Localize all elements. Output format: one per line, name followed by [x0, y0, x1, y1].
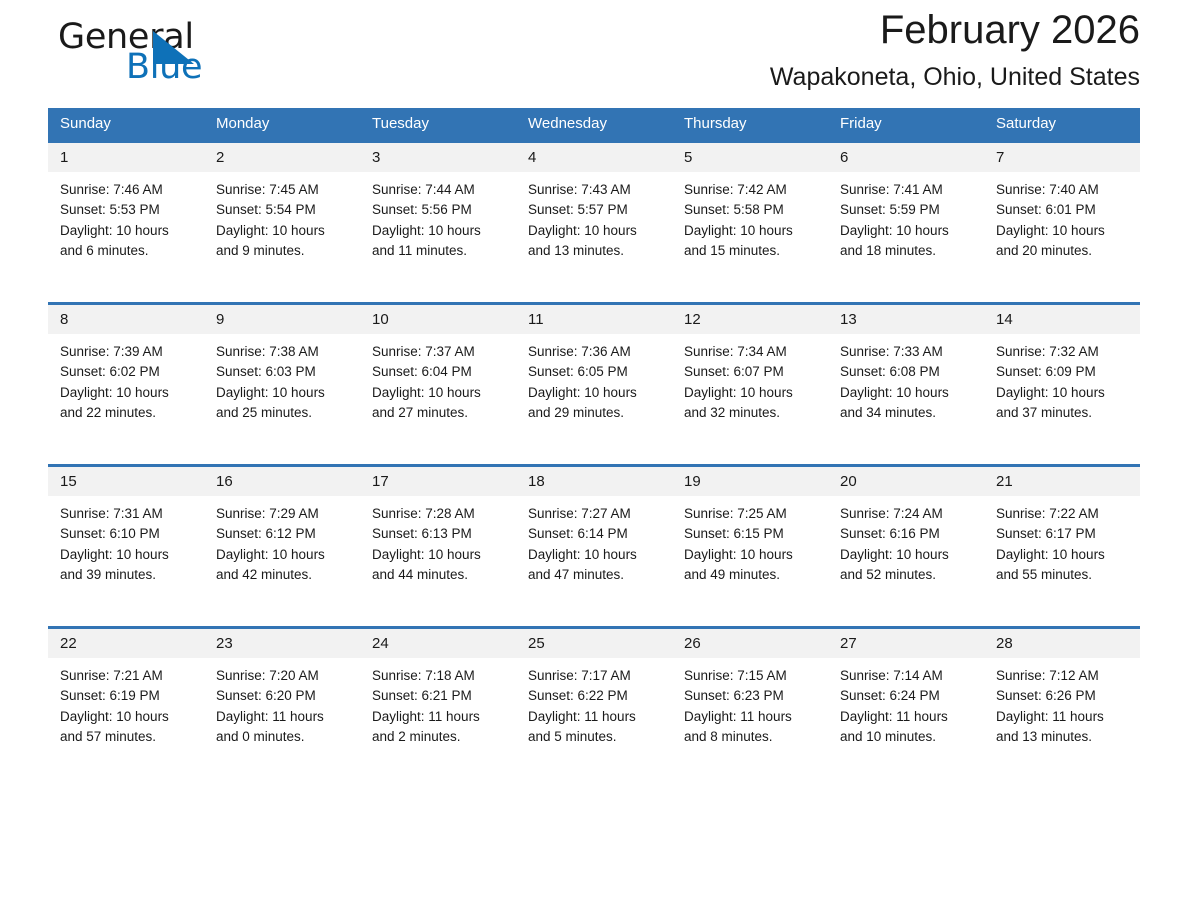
day-number: 11: [516, 305, 672, 334]
daylight-text-line1: Daylight: 10 hours: [60, 707, 194, 727]
sunset-text: Sunset: 6:26 PM: [996, 686, 1130, 706]
daylight-text-line1: Daylight: 10 hours: [684, 383, 818, 403]
daylight-text-line2: and 9 minutes.: [216, 241, 350, 261]
sunrise-text: Sunrise: 7:40 AM: [996, 180, 1130, 200]
day-cell[interactable]: 5Sunrise: 7:42 AMSunset: 5:58 PMDaylight…: [672, 142, 828, 304]
day-number: 12: [672, 305, 828, 334]
day-details: Sunrise: 7:17 AMSunset: 6:22 PMDaylight:…: [516, 658, 672, 747]
page-subtitle: Wapakoneta, Ohio, United States: [770, 60, 1140, 94]
day-number: 6: [828, 143, 984, 172]
daylight-text-line1: Daylight: 10 hours: [60, 383, 194, 403]
daylight-text-line2: and 6 minutes.: [60, 241, 194, 261]
sunrise-text: Sunrise: 7:44 AM: [372, 180, 506, 200]
sunset-text: Sunset: 6:12 PM: [216, 524, 350, 544]
daylight-text-line1: Daylight: 10 hours: [840, 545, 974, 565]
day-cell[interactable]: 19Sunrise: 7:25 AMSunset: 6:15 PMDayligh…: [672, 466, 828, 628]
day-cell[interactable]: 7Sunrise: 7:40 AMSunset: 6:01 PMDaylight…: [984, 142, 1140, 304]
logo-text-blue: Blue: [126, 50, 202, 85]
calendar-body: 1Sunrise: 7:46 AMSunset: 5:53 PMDaylight…: [48, 142, 1140, 790]
sunset-text: Sunset: 6:24 PM: [840, 686, 974, 706]
daylight-text-line1: Daylight: 10 hours: [60, 545, 194, 565]
daylight-text-line2: and 13 minutes.: [528, 241, 662, 261]
day-cell[interactable]: 14Sunrise: 7:32 AMSunset: 6:09 PMDayligh…: [984, 304, 1140, 466]
day-number: 26: [672, 629, 828, 658]
sunset-text: Sunset: 6:15 PM: [684, 524, 818, 544]
day-cell[interactable]: 28Sunrise: 7:12 AMSunset: 6:26 PMDayligh…: [984, 628, 1140, 790]
day-number: 13: [828, 305, 984, 334]
day-cell[interactable]: 22Sunrise: 7:21 AMSunset: 6:19 PMDayligh…: [48, 628, 204, 790]
sunset-text: Sunset: 6:10 PM: [60, 524, 194, 544]
day-details: Sunrise: 7:27 AMSunset: 6:14 PMDaylight:…: [516, 496, 672, 585]
daylight-text-line1: Daylight: 10 hours: [372, 383, 506, 403]
sunrise-text: Sunrise: 7:20 AM: [216, 666, 350, 686]
daylight-text-line2: and 22 minutes.: [60, 403, 194, 423]
sunset-text: Sunset: 6:19 PM: [60, 686, 194, 706]
daylight-text-line1: Daylight: 10 hours: [528, 383, 662, 403]
day-cell[interactable]: 12Sunrise: 7:34 AMSunset: 6:07 PMDayligh…: [672, 304, 828, 466]
day-number: 14: [984, 305, 1140, 334]
daylight-text-line1: Daylight: 11 hours: [840, 707, 974, 727]
day-details: Sunrise: 7:45 AMSunset: 5:54 PMDaylight:…: [204, 172, 360, 261]
day-details: Sunrise: 7:36 AMSunset: 6:05 PMDaylight:…: [516, 334, 672, 423]
day-number: 4: [516, 143, 672, 172]
sunrise-text: Sunrise: 7:41 AM: [840, 180, 974, 200]
day-cell[interactable]: 20Sunrise: 7:24 AMSunset: 6:16 PMDayligh…: [828, 466, 984, 628]
day-details: Sunrise: 7:42 AMSunset: 5:58 PMDaylight:…: [672, 172, 828, 261]
day-number: 9: [204, 305, 360, 334]
daylight-text-line2: and 2 minutes.: [372, 727, 506, 747]
daylight-text-line2: and 34 minutes.: [840, 403, 974, 423]
daylight-text-line2: and 32 minutes.: [684, 403, 818, 423]
sunset-text: Sunset: 5:53 PM: [60, 200, 194, 220]
calendar-header: Sunday Monday Tuesday Wednesday Thursday…: [48, 108, 1140, 142]
week-row: 22Sunrise: 7:21 AMSunset: 6:19 PMDayligh…: [48, 628, 1140, 790]
day-number: 10: [360, 305, 516, 334]
day-details: Sunrise: 7:43 AMSunset: 5:57 PMDaylight:…: [516, 172, 672, 261]
sunset-text: Sunset: 6:04 PM: [372, 362, 506, 382]
day-number: 21: [984, 467, 1140, 496]
sunset-text: Sunset: 6:01 PM: [996, 200, 1130, 220]
sunset-text: Sunset: 6:07 PM: [684, 362, 818, 382]
sunrise-text: Sunrise: 7:46 AM: [60, 180, 194, 200]
page-header: General Blue February 2026 Wapakoneta, O…: [48, 0, 1140, 108]
title-block: February 2026 Wapakoneta, Ohio, United S…: [770, 4, 1140, 94]
day-cell[interactable]: 1Sunrise: 7:46 AMSunset: 5:53 PMDaylight…: [48, 142, 204, 304]
daylight-text-line2: and 15 minutes.: [684, 241, 818, 261]
sunset-text: Sunset: 5:57 PM: [528, 200, 662, 220]
daylight-text-line1: Daylight: 11 hours: [528, 707, 662, 727]
day-details: Sunrise: 7:24 AMSunset: 6:16 PMDaylight:…: [828, 496, 984, 585]
daylight-text-line1: Daylight: 10 hours: [528, 221, 662, 241]
day-number: 8: [48, 305, 204, 334]
day-details: Sunrise: 7:41 AMSunset: 5:59 PMDaylight:…: [828, 172, 984, 261]
daylight-text-line1: Daylight: 10 hours: [996, 221, 1130, 241]
daylight-text-line2: and 11 minutes.: [372, 241, 506, 261]
day-number: 2: [204, 143, 360, 172]
day-details: Sunrise: 7:39 AMSunset: 6:02 PMDaylight:…: [48, 334, 204, 423]
day-cell[interactable]: 23Sunrise: 7:20 AMSunset: 6:20 PMDayligh…: [204, 628, 360, 790]
daylight-text-line2: and 57 minutes.: [60, 727, 194, 747]
day-details: Sunrise: 7:25 AMSunset: 6:15 PMDaylight:…: [672, 496, 828, 585]
sunrise-text: Sunrise: 7:36 AM: [528, 342, 662, 362]
day-details: Sunrise: 7:22 AMSunset: 6:17 PMDaylight:…: [984, 496, 1140, 585]
day-cell[interactable]: 27Sunrise: 7:14 AMSunset: 6:24 PMDayligh…: [828, 628, 984, 790]
sunset-text: Sunset: 6:09 PM: [996, 362, 1130, 382]
daylight-text-line1: Daylight: 10 hours: [684, 545, 818, 565]
day-cell[interactable]: 26Sunrise: 7:15 AMSunset: 6:23 PMDayligh…: [672, 628, 828, 790]
daylight-text-line2: and 18 minutes.: [840, 241, 974, 261]
daylight-text-line2: and 44 minutes.: [372, 565, 506, 585]
day-details: Sunrise: 7:18 AMSunset: 6:21 PMDaylight:…: [360, 658, 516, 747]
day-cell[interactable]: 3Sunrise: 7:44 AMSunset: 5:56 PMDaylight…: [360, 142, 516, 304]
day-number: 20: [828, 467, 984, 496]
week-row: 1Sunrise: 7:46 AMSunset: 5:53 PMDaylight…: [48, 142, 1140, 304]
day-details: Sunrise: 7:31 AMSunset: 6:10 PMDaylight:…: [48, 496, 204, 585]
dow-header-tuesday: Tuesday: [360, 108, 516, 142]
day-cell[interactable]: 10Sunrise: 7:37 AMSunset: 6:04 PMDayligh…: [360, 304, 516, 466]
day-details: Sunrise: 7:34 AMSunset: 6:07 PMDaylight:…: [672, 334, 828, 423]
sunrise-text: Sunrise: 7:29 AM: [216, 504, 350, 524]
calendar-page: General Blue February 2026 Wapakoneta, O…: [0, 0, 1188, 918]
day-cell[interactable]: 21Sunrise: 7:22 AMSunset: 6:17 PMDayligh…: [984, 466, 1140, 628]
sunrise-text: Sunrise: 7:15 AM: [684, 666, 818, 686]
day-details: Sunrise: 7:37 AMSunset: 6:04 PMDaylight:…: [360, 334, 516, 423]
daylight-text-line1: Daylight: 11 hours: [684, 707, 818, 727]
day-cell[interactable]: 9Sunrise: 7:38 AMSunset: 6:03 PMDaylight…: [204, 304, 360, 466]
day-cell[interactable]: 18Sunrise: 7:27 AMSunset: 6:14 PMDayligh…: [516, 466, 672, 628]
daylight-text-line1: Daylight: 10 hours: [216, 221, 350, 241]
day-details: Sunrise: 7:20 AMSunset: 6:20 PMDaylight:…: [204, 658, 360, 747]
daylight-text-line1: Daylight: 11 hours: [996, 707, 1130, 727]
dow-header-monday: Monday: [204, 108, 360, 142]
daylight-text-line1: Daylight: 10 hours: [840, 221, 974, 241]
week-row: 15Sunrise: 7:31 AMSunset: 6:10 PMDayligh…: [48, 466, 1140, 628]
sunrise-text: Sunrise: 7:25 AM: [684, 504, 818, 524]
day-cell[interactable]: 2Sunrise: 7:45 AMSunset: 5:54 PMDaylight…: [204, 142, 360, 304]
calendar-table: Sunday Monday Tuesday Wednesday Thursday…: [48, 108, 1140, 790]
dow-header-wednesday: Wednesday: [516, 108, 672, 142]
daylight-text-line2: and 20 minutes.: [996, 241, 1130, 261]
sunset-text: Sunset: 5:54 PM: [216, 200, 350, 220]
day-number: 16: [204, 467, 360, 496]
sunrise-text: Sunrise: 7:38 AM: [216, 342, 350, 362]
sunrise-text: Sunrise: 7:17 AM: [528, 666, 662, 686]
daylight-text-line2: and 5 minutes.: [528, 727, 662, 747]
day-number: 15: [48, 467, 204, 496]
daylight-text-line2: and 49 minutes.: [684, 565, 818, 585]
sunrise-text: Sunrise: 7:39 AM: [60, 342, 194, 362]
dow-header-friday: Friday: [828, 108, 984, 142]
sunset-text: Sunset: 6:23 PM: [684, 686, 818, 706]
sunrise-text: Sunrise: 7:34 AM: [684, 342, 818, 362]
dow-header-saturday: Saturday: [984, 108, 1140, 142]
sunrise-text: Sunrise: 7:37 AM: [372, 342, 506, 362]
sunset-text: Sunset: 6:02 PM: [60, 362, 194, 382]
day-number: 25: [516, 629, 672, 658]
daylight-text-line1: Daylight: 11 hours: [372, 707, 506, 727]
sunrise-text: Sunrise: 7:45 AM: [216, 180, 350, 200]
day-number: 22: [48, 629, 204, 658]
daylight-text-line2: and 8 minutes.: [684, 727, 818, 747]
day-cell[interactable]: 17Sunrise: 7:28 AMSunset: 6:13 PMDayligh…: [360, 466, 516, 628]
sunrise-text: Sunrise: 7:22 AM: [996, 504, 1130, 524]
day-cell[interactable]: 4Sunrise: 7:43 AMSunset: 5:57 PMDaylight…: [516, 142, 672, 304]
sunset-text: Sunset: 5:59 PM: [840, 200, 974, 220]
day-details: Sunrise: 7:21 AMSunset: 6:19 PMDaylight:…: [48, 658, 204, 747]
day-cell[interactable]: 24Sunrise: 7:18 AMSunset: 6:21 PMDayligh…: [360, 628, 516, 790]
week-row: 8Sunrise: 7:39 AMSunset: 6:02 PMDaylight…: [48, 304, 1140, 466]
sunset-text: Sunset: 6:14 PM: [528, 524, 662, 544]
daylight-text-line1: Daylight: 10 hours: [840, 383, 974, 403]
day-details: Sunrise: 7:33 AMSunset: 6:08 PMDaylight:…: [828, 334, 984, 423]
sunset-text: Sunset: 6:08 PM: [840, 362, 974, 382]
sunset-text: Sunset: 6:16 PM: [840, 524, 974, 544]
day-number: 23: [204, 629, 360, 658]
day-details: Sunrise: 7:44 AMSunset: 5:56 PMDaylight:…: [360, 172, 516, 261]
day-number: 24: [360, 629, 516, 658]
daylight-text-line2: and 39 minutes.: [60, 565, 194, 585]
sunrise-text: Sunrise: 7:42 AM: [684, 180, 818, 200]
sunset-text: Sunset: 5:56 PM: [372, 200, 506, 220]
daylight-text-line1: Daylight: 10 hours: [216, 383, 350, 403]
day-details: Sunrise: 7:32 AMSunset: 6:09 PMDaylight:…: [984, 334, 1140, 423]
sunset-text: Sunset: 6:21 PM: [372, 686, 506, 706]
day-details: Sunrise: 7:28 AMSunset: 6:13 PMDaylight:…: [360, 496, 516, 585]
sunrise-text: Sunrise: 7:33 AM: [840, 342, 974, 362]
daylight-text-line2: and 52 minutes.: [840, 565, 974, 585]
day-details: Sunrise: 7:40 AMSunset: 6:01 PMDaylight:…: [984, 172, 1140, 261]
daylight-text-line2: and 42 minutes.: [216, 565, 350, 585]
day-number: 28: [984, 629, 1140, 658]
sunset-text: Sunset: 5:58 PM: [684, 200, 818, 220]
daylight-text-line1: Daylight: 10 hours: [684, 221, 818, 241]
daylight-text-line2: and 10 minutes.: [840, 727, 974, 747]
day-number: 18: [516, 467, 672, 496]
day-number: 1: [48, 143, 204, 172]
sunset-text: Sunset: 6:05 PM: [528, 362, 662, 382]
daylight-text-line2: and 47 minutes.: [528, 565, 662, 585]
sunset-text: Sunset: 6:20 PM: [216, 686, 350, 706]
day-cell[interactable]: 15Sunrise: 7:31 AMSunset: 6:10 PMDayligh…: [48, 466, 204, 628]
sunset-text: Sunset: 6:22 PM: [528, 686, 662, 706]
sunrise-text: Sunrise: 7:28 AM: [372, 504, 506, 524]
day-number: 19: [672, 467, 828, 496]
sunrise-text: Sunrise: 7:14 AM: [840, 666, 974, 686]
day-number: 7: [984, 143, 1140, 172]
day-number: 17: [360, 467, 516, 496]
daylight-text-line1: Daylight: 10 hours: [996, 545, 1130, 565]
daylight-text-line2: and 0 minutes.: [216, 727, 350, 747]
daylight-text-line2: and 25 minutes.: [216, 403, 350, 423]
day-number: 27: [828, 629, 984, 658]
day-details: Sunrise: 7:29 AMSunset: 6:12 PMDaylight:…: [204, 496, 360, 585]
page-title: February 2026: [770, 4, 1140, 56]
day-cell[interactable]: 11Sunrise: 7:36 AMSunset: 6:05 PMDayligh…: [516, 304, 672, 466]
daylight-text-line1: Daylight: 10 hours: [372, 221, 506, 241]
day-cell[interactable]: 6Sunrise: 7:41 AMSunset: 5:59 PMDaylight…: [828, 142, 984, 304]
sunrise-text: Sunrise: 7:27 AM: [528, 504, 662, 524]
daylight-text-line1: Daylight: 10 hours: [372, 545, 506, 565]
day-details: Sunrise: 7:12 AMSunset: 6:26 PMDaylight:…: [984, 658, 1140, 747]
sunrise-text: Sunrise: 7:21 AM: [60, 666, 194, 686]
sunset-text: Sunset: 6:17 PM: [996, 524, 1130, 544]
sunrise-text: Sunrise: 7:43 AM: [528, 180, 662, 200]
daylight-text-line2: and 55 minutes.: [996, 565, 1130, 585]
day-cell[interactable]: 8Sunrise: 7:39 AMSunset: 6:02 PMDaylight…: [48, 304, 204, 466]
day-cell[interactable]: 16Sunrise: 7:29 AMSunset: 6:12 PMDayligh…: [204, 466, 360, 628]
day-number: 3: [360, 143, 516, 172]
daylight-text-line1: Daylight: 10 hours: [60, 221, 194, 241]
day-details: Sunrise: 7:15 AMSunset: 6:23 PMDaylight:…: [672, 658, 828, 747]
day-of-week-row: Sunday Monday Tuesday Wednesday Thursday…: [48, 108, 1140, 142]
sunrise-text: Sunrise: 7:18 AM: [372, 666, 506, 686]
sunset-text: Sunset: 6:13 PM: [372, 524, 506, 544]
sunrise-text: Sunrise: 7:24 AM: [840, 504, 974, 524]
dow-header-sunday: Sunday: [48, 108, 204, 142]
daylight-text-line2: and 27 minutes.: [372, 403, 506, 423]
daylight-text-line2: and 29 minutes.: [528, 403, 662, 423]
sunrise-text: Sunrise: 7:12 AM: [996, 666, 1130, 686]
day-cell[interactable]: 13Sunrise: 7:33 AMSunset: 6:08 PMDayligh…: [828, 304, 984, 466]
daylight-text-line2: and 37 minutes.: [996, 403, 1130, 423]
daylight-text-line1: Daylight: 11 hours: [216, 707, 350, 727]
dow-header-thursday: Thursday: [672, 108, 828, 142]
day-details: Sunrise: 7:14 AMSunset: 6:24 PMDaylight:…: [828, 658, 984, 747]
day-details: Sunrise: 7:38 AMSunset: 6:03 PMDaylight:…: [204, 334, 360, 423]
day-number: 5: [672, 143, 828, 172]
daylight-text-line1: Daylight: 10 hours: [216, 545, 350, 565]
generalblue-logo[interactable]: General Blue: [48, 12, 268, 92]
sunrise-text: Sunrise: 7:32 AM: [996, 342, 1130, 362]
daylight-text-line2: and 13 minutes.: [996, 727, 1130, 747]
daylight-text-line1: Daylight: 10 hours: [528, 545, 662, 565]
sunset-text: Sunset: 6:03 PM: [216, 362, 350, 382]
day-cell[interactable]: 25Sunrise: 7:17 AMSunset: 6:22 PMDayligh…: [516, 628, 672, 790]
day-details: Sunrise: 7:46 AMSunset: 5:53 PMDaylight:…: [48, 172, 204, 261]
daylight-text-line1: Daylight: 10 hours: [996, 383, 1130, 403]
sunrise-text: Sunrise: 7:31 AM: [60, 504, 194, 524]
